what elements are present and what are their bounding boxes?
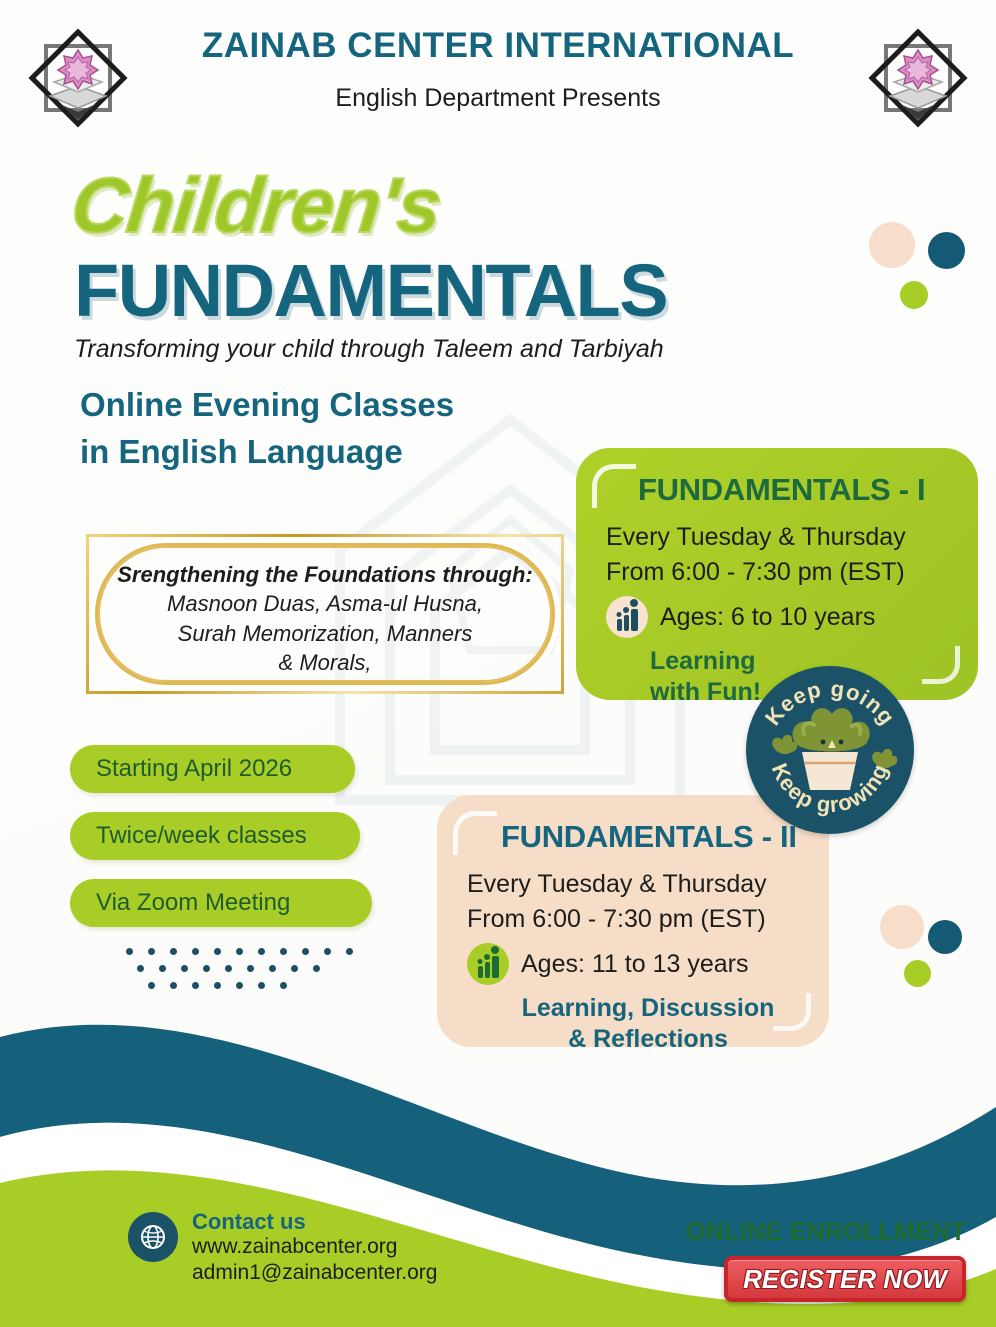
enrollment-label: ONLINE ENROLLMENT — [686, 1218, 966, 1247]
foundations-line-1: Masnoon Duas, Asma-ul Husna, — [96, 589, 554, 618]
globe-icon — [128, 1212, 178, 1262]
deco-circle-peach-top — [869, 222, 915, 268]
contact-email[interactable]: admin1@zainabcenter.org — [192, 1261, 437, 1285]
register-now-button[interactable]: REGISTER NOW — [724, 1256, 966, 1302]
card-time: From 6:00 - 7:30 pm (EST) — [467, 902, 803, 937]
deco-circle-green-top — [900, 281, 928, 309]
foundations-text: Srengthening the Foundations through: Ma… — [96, 560, 554, 677]
deco-circle-navy-top — [928, 232, 965, 269]
card-shine-icon — [453, 811, 497, 855]
card-time: From 6:00 - 7:30 pm (EST) — [606, 555, 952, 590]
foundations-line-3: & Morals, — [96, 648, 554, 677]
foundations-lead: Srengthening the Foundations through: — [96, 560, 554, 589]
info-pill-start-date: Starting April 2026 — [70, 745, 355, 793]
card-age-row: Ages: 11 to 13 years — [467, 943, 803, 985]
dot-row — [126, 948, 353, 955]
hero-classes-info: Online Evening Classes in English Langua… — [80, 382, 454, 476]
dot-row — [137, 965, 353, 972]
family-group-icon — [467, 943, 509, 985]
card-title: FUNDAMENTALS - I — [606, 472, 952, 508]
contact-heading: Contact us — [192, 1209, 306, 1235]
hero-title-line2: FUNDAMENTALS — [74, 248, 667, 333]
course-card-fundamentals-1: FUNDAMENTALS - I Every Tuesday & Thursda… — [576, 448, 978, 700]
info-pill-frequency: Twice/week classes — [70, 812, 360, 860]
info-pill-label: Starting April 2026 — [96, 755, 292, 783]
info-pill-label: Via Zoom Meeting — [96, 889, 290, 917]
hero-title-line1: Children's — [67, 160, 445, 251]
keep-going-badge: Keep going Keep growing — [746, 666, 914, 834]
poster-canvas: ZAINAB CENTER INTERNATIONAL English Depa… — [0, 0, 996, 1327]
hero-tagline: Transforming your child through Taleem a… — [74, 335, 664, 364]
deco-circle-navy-bottom — [928, 920, 962, 954]
card-ages: Ages: 6 to 10 years — [660, 600, 875, 635]
classes-line-2: in English Language — [80, 429, 454, 476]
info-pill-label: Twice/week classes — [96, 822, 307, 850]
family-group-icon — [606, 596, 648, 638]
deco-circle-peach-bottom — [880, 905, 924, 949]
card-days: Every Tuesday & Thursday — [606, 520, 952, 555]
card-age-row: Ages: 6 to 10 years — [606, 596, 952, 638]
card-ages: Ages: 11 to 13 years — [521, 947, 748, 982]
card-days: Every Tuesday & Thursday — [467, 867, 803, 902]
organization-title: ZAINAB CENTER INTERNATIONAL — [0, 26, 996, 66]
organization-subtitle: English Department Presents — [0, 84, 996, 113]
card-shine-icon — [592, 464, 636, 508]
deco-circle-green-bottom — [904, 960, 931, 987]
card-shine-icon — [922, 646, 960, 684]
contact-website[interactable]: www.zainabcenter.org — [192, 1235, 397, 1259]
classes-line-1: Online Evening Classes — [80, 382, 454, 429]
info-pill-platform: Via Zoom Meeting — [70, 879, 372, 927]
foundations-line-2: Surah Memorization, Manners — [96, 619, 554, 648]
